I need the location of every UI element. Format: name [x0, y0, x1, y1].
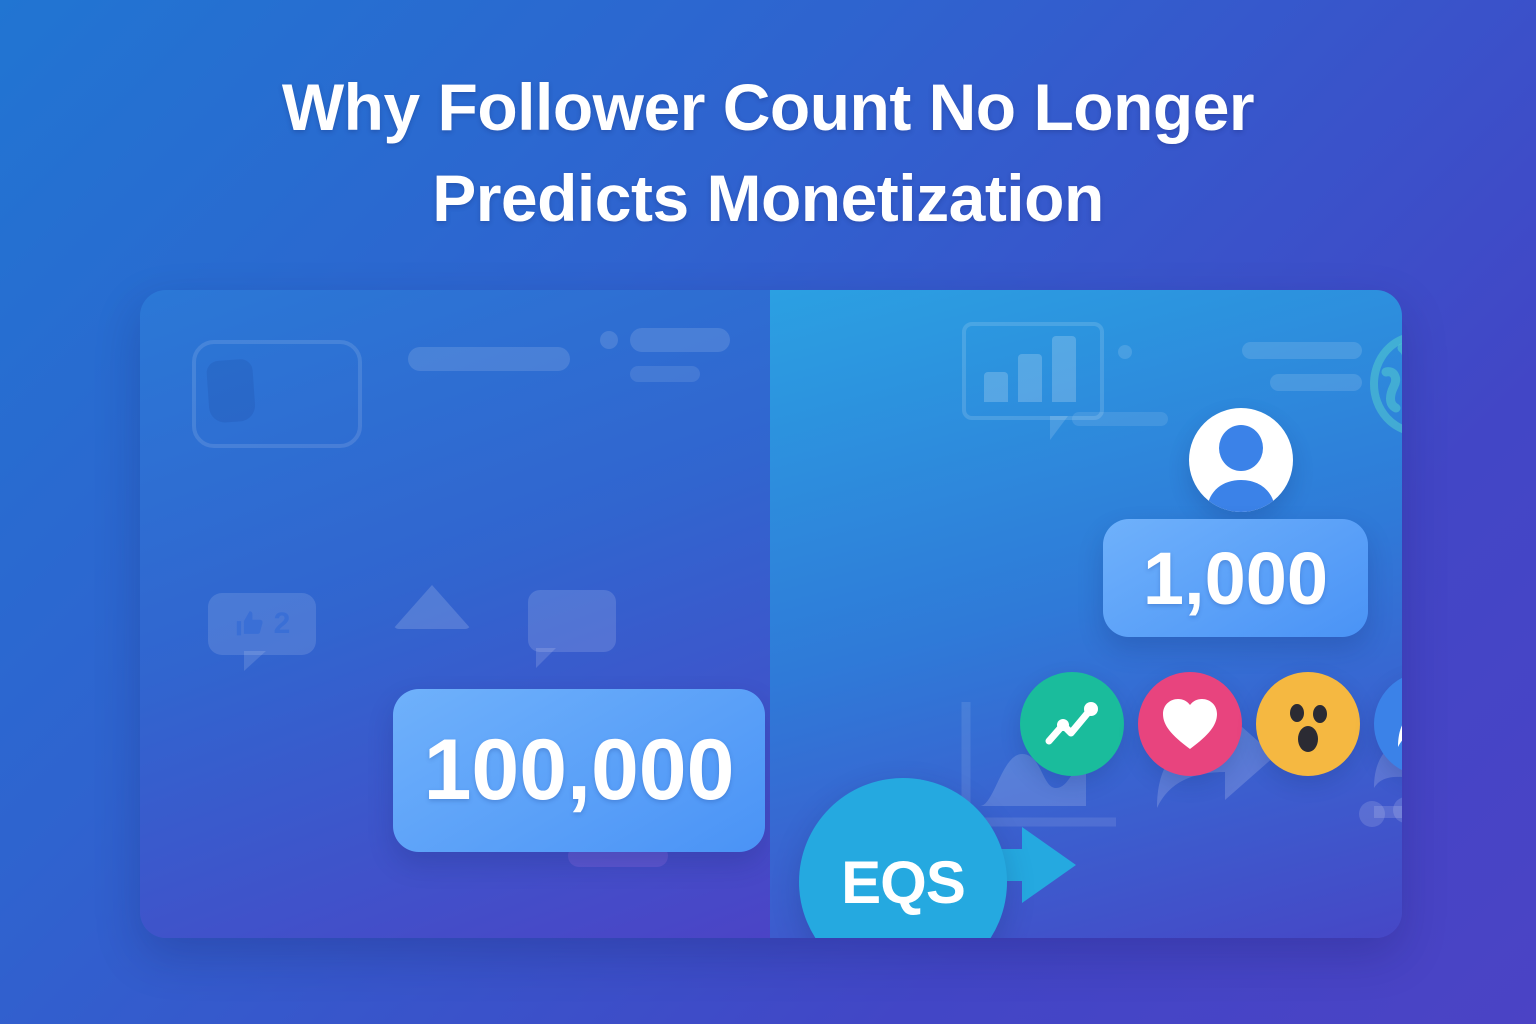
thumbs-up-badge: 2	[208, 593, 316, 655]
comparison-panel: 2 100,000	[140, 290, 1402, 938]
follower-count-badge: 100,000	[393, 689, 765, 852]
reaction-love[interactable]	[1138, 672, 1242, 776]
page-title-line-1: Why Follower Count No Longer	[0, 62, 1536, 153]
engaged-audience-badge: 1,000	[1103, 519, 1368, 637]
eqs-label: EQS	[841, 848, 965, 917]
page-title: Why Follower Count No Longer Predicts Mo…	[0, 62, 1536, 244]
deco-line	[408, 347, 570, 371]
bar-chart-bubble-icon	[962, 322, 1104, 420]
deco-line	[1270, 374, 1362, 391]
screen-thumb-icon	[206, 358, 256, 423]
bar-chart-bar	[984, 372, 1008, 402]
deco-line	[1072, 412, 1168, 426]
bar-chart-bar	[1018, 354, 1042, 402]
deco-dot	[600, 331, 618, 349]
user-avatar-circle	[1189, 408, 1293, 512]
user-avatar-icon	[1189, 408, 1293, 512]
reaction-row	[1020, 672, 1402, 776]
page-title-line-2: Predicts Monetization	[0, 153, 1536, 244]
deco-line	[630, 366, 700, 382]
bar-chart-bar	[1052, 336, 1076, 402]
trend-icon	[1043, 699, 1101, 749]
share-icon	[1396, 697, 1402, 751]
thumbs-up-icon	[234, 607, 268, 641]
wow-face-icon	[1275, 691, 1341, 757]
deco-line	[630, 328, 730, 352]
thumbs-up-count: 2	[274, 607, 291, 641]
follower-count-panel: 2 100,000	[140, 290, 770, 938]
globe-icon	[1368, 332, 1402, 436]
reaction-trend[interactable]	[1020, 672, 1124, 776]
heart-icon	[1161, 697, 1219, 751]
speech-bubble-icon	[528, 590, 616, 652]
deco-line	[1242, 342, 1362, 359]
reaction-wow[interactable]	[1256, 672, 1360, 776]
reaction-share[interactable]	[1374, 672, 1402, 776]
deco-dot	[1118, 345, 1132, 359]
triangle-up-icon	[393, 585, 471, 629]
